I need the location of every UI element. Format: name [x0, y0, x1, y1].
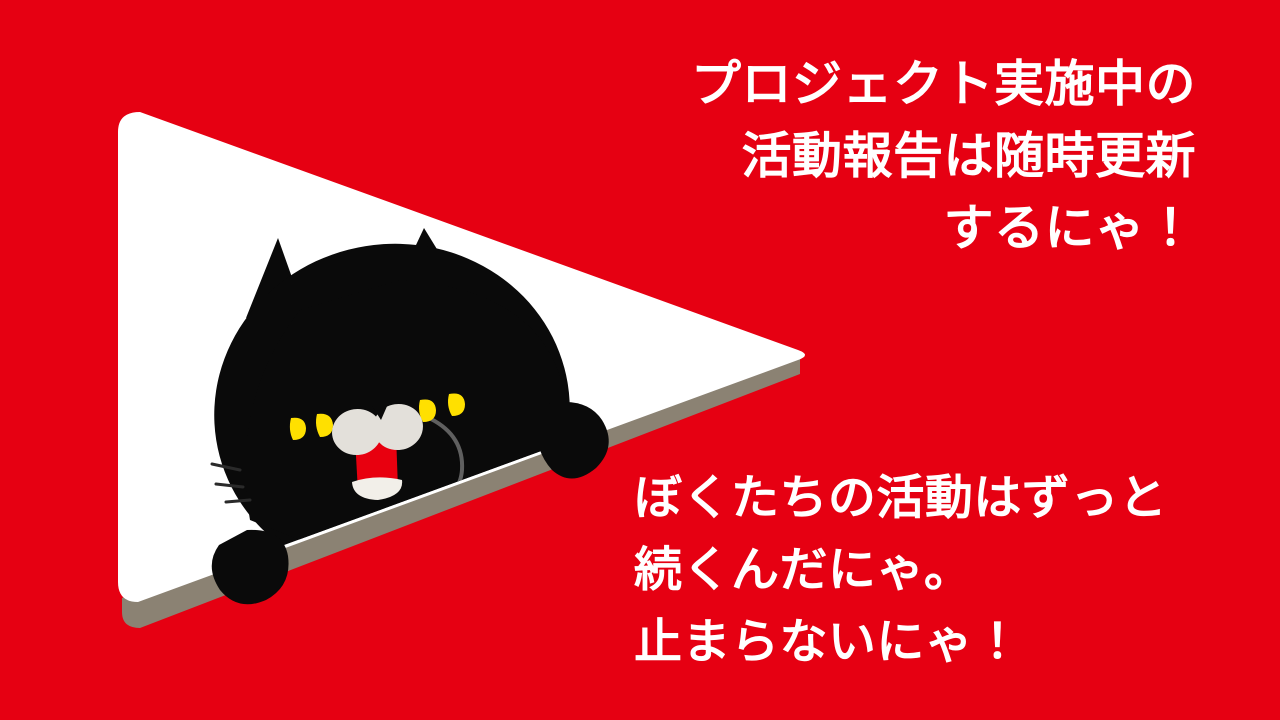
headline-bottom-line-2: 続くんだにゃ。 — [634, 534, 1167, 606]
headline-top-line-3: するにゃ！ — [691, 192, 1196, 264]
headline-bottom-line-1: ぼくたちの活動はずっと — [634, 462, 1167, 534]
headline-top-line-1: プロジェクト実施中の — [691, 48, 1196, 120]
banner-canvas: プロジェクト実施中の 活動報告は随時更新 するにゃ！ ぼくたちの活動はずっと 続… — [0, 0, 1280, 720]
headline-top-line-2: 活動報告は随時更新 — [691, 120, 1196, 192]
headline-bottom-line-3: 止まらないにゃ！ — [634, 606, 1167, 678]
headline-top: プロジェクト実施中の 活動報告は随時更新 するにゃ！ — [691, 48, 1196, 264]
headline-bottom: ぼくたちの活動はずっと 続くんだにゃ。 止まらないにゃ！ — [634, 462, 1167, 678]
